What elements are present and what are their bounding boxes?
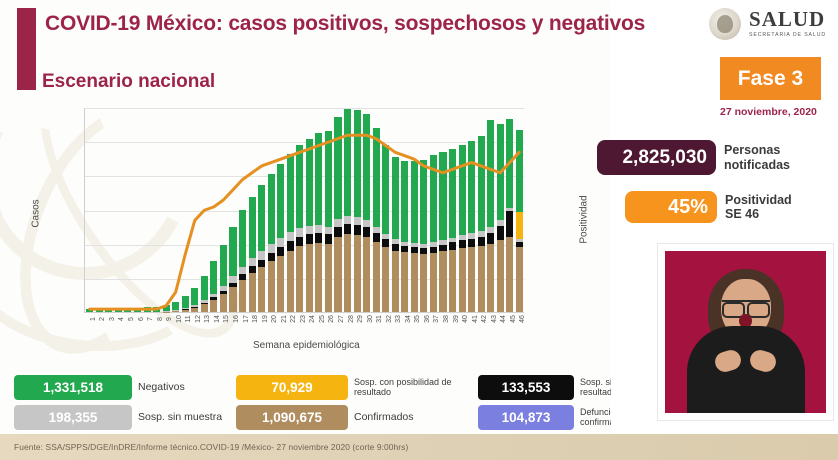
bar-slot[interactable]: 25: [314, 108, 324, 312]
bar-slot[interactable]: 4: [114, 108, 124, 312]
bar-slot[interactable]: 20: [266, 108, 276, 312]
bar-segment: [325, 227, 332, 235]
x-tick: 30: [367, 315, 374, 323]
plot-area: 00%20,00010%40,00020%60,00030%80,00040%1…: [84, 108, 524, 313]
bar-segment: [363, 220, 370, 227]
bar-segment: [258, 260, 265, 267]
bar-segment: [506, 237, 513, 312]
bar-segment: [449, 242, 456, 249]
bar-slot[interactable]: 16: [228, 108, 238, 312]
bar-slot[interactable]: 11: [180, 108, 190, 312]
stacked-bar[interactable]: [210, 261, 217, 312]
bar-segment: [459, 248, 466, 312]
bar-segment: [430, 155, 437, 242]
bar-segment: [220, 245, 227, 286]
x-tick: 7: [147, 317, 154, 321]
bar-segment: [354, 217, 361, 224]
stacked-bar[interactable]: [478, 136, 485, 312]
stacked-bar[interactable]: [86, 309, 93, 312]
stacked-bar[interactable]: [344, 109, 351, 312]
stacked-bar[interactable]: [296, 145, 303, 312]
x-tick: 21: [281, 315, 288, 323]
stat-label-line2: SE 46: [725, 207, 792, 222]
bar-segment: [449, 250, 456, 312]
bar-slot[interactable]: 39: [448, 108, 458, 312]
x-tick: 45: [510, 315, 517, 323]
bar-slot[interactable]: 41: [467, 108, 477, 312]
bar-segment: [354, 235, 361, 312]
bar-segment: [344, 224, 351, 235]
bar-slot[interactable]: 2: [95, 108, 105, 312]
bar-segment: [325, 244, 332, 312]
bar-segment: [86, 309, 93, 312]
stacked-bar[interactable]: [468, 141, 475, 312]
bar-slot[interactable]: 45: [505, 108, 515, 312]
x-tick: 11: [185, 315, 192, 322]
bar-slot[interactable]: 38: [438, 108, 448, 312]
bar-slot[interactable]: 29: [352, 108, 362, 312]
bar-segment: [382, 239, 389, 247]
bar-segment: [516, 130, 523, 212]
x-tick: 1: [90, 317, 97, 321]
x-tick: 37: [433, 315, 440, 323]
x-tick: 4: [118, 317, 125, 321]
stacked-bar[interactable]: [229, 227, 236, 312]
interpreter-frame: [665, 251, 826, 413]
bar-slot[interactable]: 15: [219, 108, 229, 312]
stacked-bar[interactable]: [249, 197, 256, 312]
bar-segment: [478, 136, 485, 232]
bar-segment: [277, 247, 284, 256]
glasses-icon: [722, 300, 770, 312]
bar-segment: [373, 128, 380, 227]
stacked-bar[interactable]: [163, 305, 170, 312]
bar-segment: [506, 211, 513, 237]
stacked-bar[interactable]: [449, 149, 456, 312]
stacked-bar[interactable]: [306, 139, 313, 312]
legend-label: Confirmados: [354, 411, 472, 423]
bar-segment: [382, 247, 389, 312]
bar-slot[interactable]: 12: [190, 108, 200, 312]
page-title: COVID-19 México: casos positivos, sospec…: [45, 12, 645, 36]
bar-segment: [268, 244, 275, 253]
bar-segment: [315, 233, 322, 243]
x-tick: 6: [138, 317, 145, 321]
x-tick: 13: [204, 315, 211, 323]
chart: Casos Positividad Semana epidemiológica …: [0, 96, 611, 366]
y-axis-title-right: Positividad: [579, 195, 590, 243]
bar-segment: [96, 309, 103, 312]
bar-segment: [306, 244, 313, 312]
x-tick: 27: [338, 315, 345, 323]
legend-value: 1,090,675: [236, 405, 348, 430]
x-tick: 9: [166, 317, 173, 321]
bar-segment: [268, 253, 275, 261]
bar-segment: [229, 227, 236, 277]
x-tick: 38: [443, 315, 450, 323]
bar-slot[interactable]: 44: [496, 108, 506, 312]
x-tick: 12: [195, 315, 202, 323]
x-tick: 26: [328, 315, 335, 323]
stacked-bar[interactable]: [287, 154, 294, 312]
legend-label: Negativos: [138, 381, 230, 393]
bar-slot[interactable]: 7: [142, 108, 152, 312]
bar-segment: [468, 239, 475, 248]
bar-slot[interactable]: 33: [391, 108, 401, 312]
bar-segment: [354, 110, 361, 218]
bar-segment: [287, 251, 294, 313]
stacked-bar[interactable]: [239, 210, 246, 312]
bar-segment: [239, 267, 246, 275]
bar-slot[interactable]: 9: [161, 108, 171, 312]
bar-segment: [296, 145, 303, 228]
bar-segment: [430, 253, 437, 312]
bar-segment: [249, 258, 256, 266]
right-panel: Fase 3 27 noviembre, 2020 2,825,030 Pers…: [611, 0, 838, 460]
bar-segment: [420, 254, 427, 312]
x-tick: 17: [243, 315, 250, 323]
bar-segment: [344, 109, 351, 217]
stacked-bar[interactable]: [506, 119, 513, 312]
stacked-bar[interactable]: [268, 174, 275, 312]
stacked-bar[interactable]: [105, 309, 112, 312]
bar-group: 1234567891011121314151617181920212223242…: [85, 108, 524, 312]
stacked-bar[interactable]: [182, 296, 189, 312]
bar-slot[interactable]: 42: [476, 108, 486, 312]
bar-slot[interactable]: 37: [429, 108, 439, 312]
bar-slot[interactable]: 24: [305, 108, 315, 312]
bar-slot[interactable]: 1: [85, 108, 95, 312]
x-tick: 18: [252, 315, 259, 323]
salud-logo: SALUD SECRETARIA DE SALUD: [709, 8, 826, 40]
bar-segment: [344, 216, 351, 224]
bar-slot[interactable]: 30: [362, 108, 372, 312]
bar-segment: [334, 117, 341, 220]
bar-segment: [182, 310, 189, 312]
stacked-bar[interactable]: [420, 160, 427, 312]
bar-segment: [487, 233, 494, 244]
stat-label-line1: Personas: [724, 143, 790, 158]
x-tick: 39: [453, 315, 460, 323]
report-date: 27 noviembre, 2020: [720, 106, 817, 118]
bar-segment: [439, 251, 446, 312]
stacked-bar[interactable]: [334, 117, 341, 312]
x-tick: 35: [414, 315, 421, 323]
bar-segment: [478, 237, 485, 247]
bar-segment: [497, 124, 504, 220]
y-axis-title-left: Casos: [31, 199, 42, 227]
bar-segment: [334, 219, 341, 227]
x-tick: 32: [386, 315, 393, 323]
bar-slot[interactable]: 17: [238, 108, 248, 312]
bar-segment: [296, 237, 303, 247]
logo-wordmark: SALUD: [749, 9, 826, 30]
bar-segment: [516, 212, 523, 239]
bar-segment: [363, 114, 370, 220]
bar-segment: [334, 237, 341, 312]
x-tick: 41: [472, 315, 479, 323]
legend-label: Sosp. sin muestra: [138, 411, 230, 423]
x-tick: 34: [405, 315, 412, 323]
bar-segment: [401, 252, 408, 312]
sign-language-video[interactable]: [658, 244, 833, 420]
bar-segment: [287, 241, 294, 250]
bar-segment: [363, 227, 370, 237]
bar-segment: [115, 308, 122, 312]
stacked-bar[interactable]: [201, 276, 208, 312]
stacked-bar[interactable]: [172, 302, 179, 312]
bar-segment: [401, 161, 408, 241]
stat-label: Personas notificadas: [724, 143, 790, 172]
stat-label-line2: notificadas: [724, 158, 790, 173]
x-tick: 25: [319, 315, 326, 323]
bar-segment: [124, 308, 131, 312]
bar-segment: [296, 246, 303, 312]
bar-segment: [363, 237, 370, 312]
stacked-bar[interactable]: [516, 130, 523, 312]
bar-slot[interactable]: 5: [123, 108, 133, 312]
bar-segment: [315, 133, 322, 225]
bar-slot[interactable]: 10: [171, 108, 181, 312]
legend-value: 70,929: [236, 375, 348, 400]
bar-segment: [306, 234, 313, 244]
x-tick: 24: [309, 315, 316, 323]
bar-segment: [468, 141, 475, 233]
stacked-bar[interactable]: [401, 161, 408, 312]
x-tick: 43: [491, 315, 498, 323]
bar-segment: [239, 210, 246, 266]
bar-slot[interactable]: 28: [343, 108, 353, 312]
bar-segment: [315, 243, 322, 312]
bar-segment: [172, 311, 179, 312]
bar-segment: [382, 145, 389, 234]
x-tick: 31: [376, 315, 383, 323]
stacked-bar[interactable]: [325, 131, 332, 312]
bar-segment: [191, 288, 198, 305]
bar-segment: [439, 152, 446, 240]
x-tick: 22: [290, 315, 297, 323]
bar-segment: [306, 139, 313, 225]
x-tick: 15: [223, 315, 230, 323]
legend-value: 198,355: [14, 405, 132, 430]
bar-segment: [258, 251, 265, 260]
stacked-bar[interactable]: [258, 185, 265, 312]
bar-segment: [487, 244, 494, 312]
bar-segment: [172, 302, 179, 311]
bar-segment: [229, 287, 236, 312]
x-tick: 33: [395, 315, 402, 323]
x-tick: 40: [462, 315, 469, 323]
bar-segment: [144, 307, 151, 312]
bar-slot[interactable]: 40: [457, 108, 467, 312]
bar-slot[interactable]: 35: [410, 108, 420, 312]
stat-label-line1: Positividad: [725, 193, 792, 208]
bar-segment: [268, 174, 275, 244]
bar-segment: [325, 131, 332, 227]
stacked-bar[interactable]: [411, 161, 418, 312]
bar-segment: [220, 294, 227, 312]
bar-slot[interactable]: 3: [104, 108, 114, 312]
stat-personas-notificadas: 2,825,030 Personas notificadas: [597, 140, 790, 175]
x-tick: 10: [176, 315, 183, 323]
bar-segment: [478, 246, 485, 312]
x-tick: 36: [424, 315, 431, 323]
bar-segment: [392, 251, 399, 313]
stacked-bar[interactable]: [115, 308, 122, 312]
x-tick: 46: [519, 315, 526, 323]
bar-segment: [201, 276, 208, 300]
stacked-bar[interactable]: [144, 307, 151, 312]
bar-slot[interactable]: 19: [257, 108, 267, 312]
bar-segment: [354, 225, 361, 236]
stacked-bar[interactable]: [220, 245, 227, 312]
bar-slot[interactable]: 23: [295, 108, 305, 312]
bar-slot[interactable]: 46: [515, 108, 525, 312]
x-tick: 2: [99, 317, 106, 321]
bar-segment: [306, 226, 313, 234]
bar-segment: [373, 233, 380, 242]
stacked-bar[interactable]: [392, 157, 399, 312]
bar-segment: [182, 296, 189, 308]
bar-segment: [210, 261, 217, 293]
footer-source: Fuente: SSA/SPPS/DGE/InDRE/Informe técni…: [0, 434, 838, 460]
bar-segment: [468, 247, 475, 312]
legend-value: 104,873: [478, 405, 574, 430]
bar-slot[interactable]: 32: [381, 108, 391, 312]
x-tick: 19: [262, 315, 269, 323]
stat-label: Positividad SE 46: [725, 193, 792, 222]
x-tick: 23: [300, 315, 307, 323]
footer-text: Fuente: SSA/SPPS/DGE/InDRE/Informe técni…: [0, 442, 408, 452]
bar-segment: [258, 267, 265, 312]
bar-segment: [411, 161, 418, 243]
stat-positividad: 45% Positividad SE 46: [625, 191, 792, 223]
x-tick: 5: [128, 317, 135, 321]
bar-segment: [258, 185, 265, 251]
person-body: [687, 326, 805, 413]
bar-segment: [134, 308, 141, 312]
bar-segment: [497, 240, 504, 312]
stacked-bar[interactable]: [277, 164, 284, 312]
bar-segment: [334, 227, 341, 237]
bar-segment: [344, 234, 351, 312]
fase-badge: Fase 3: [720, 57, 821, 100]
bar-segment: [153, 307, 160, 312]
stacked-bar[interactable]: [153, 307, 160, 312]
x-tick: 14: [214, 315, 221, 323]
stacked-bar[interactable]: [497, 124, 504, 312]
bar-segment: [191, 308, 198, 312]
stacked-bar[interactable]: [191, 288, 198, 312]
bar-slot[interactable]: 21: [276, 108, 286, 312]
stacked-bar[interactable]: [382, 145, 389, 312]
stacked-bar[interactable]: [363, 114, 370, 312]
bar-segment: [210, 300, 217, 312]
bar-slot[interactable]: 8: [152, 108, 162, 312]
x-tick: 3: [109, 317, 116, 321]
bar-segment: [459, 240, 466, 248]
eagle-seal-icon: [709, 8, 741, 40]
stacked-bar[interactable]: [354, 110, 361, 312]
bar-segment: [497, 226, 504, 241]
bar-segment: [277, 164, 284, 238]
stacked-bar[interactable]: [439, 152, 446, 312]
legend-label: Sosp. con posibilidad de resultado: [354, 377, 472, 398]
bar-segment: [296, 228, 303, 237]
bar-segment: [392, 157, 399, 239]
bar-segment: [287, 154, 294, 233]
stacked-bar[interactable]: [430, 155, 437, 312]
bar-slot[interactable]: 22: [285, 108, 295, 312]
bar-segment: [239, 280, 246, 312]
bar-segment: [392, 244, 399, 251]
title-accent-bar: [17, 8, 36, 90]
bar-slot[interactable]: 26: [324, 108, 334, 312]
stacked-bar[interactable]: [459, 145, 466, 312]
legend-value: 1,331,518: [14, 375, 132, 400]
bar-segment: [411, 253, 418, 312]
x-tick: 16: [233, 315, 240, 323]
bar-slot[interactable]: 31: [371, 108, 381, 312]
bar-segment: [487, 120, 494, 228]
section-title: Escenario nacional: [42, 71, 215, 93]
stat-value: 2,825,030: [597, 140, 716, 175]
bar-segment: [249, 197, 256, 259]
bar-slot[interactable]: 6: [133, 108, 143, 312]
bar-slot[interactable]: 13: [200, 108, 210, 312]
stacked-bar[interactable]: [96, 309, 103, 312]
bar-segment: [449, 149, 456, 238]
bar-segment: [459, 145, 466, 236]
stacked-bar[interactable]: [373, 128, 380, 312]
bar-segment: [268, 261, 275, 312]
bar-segment: [315, 225, 322, 233]
legend-value: 133,553: [478, 375, 574, 400]
stacked-bar[interactable]: [487, 120, 494, 313]
bar-slot[interactable]: 27: [333, 108, 343, 312]
bar-segment: [201, 304, 208, 312]
bar-slot[interactable]: 18: [247, 108, 257, 312]
bar-slot[interactable]: 36: [419, 108, 429, 312]
x-tick: 28: [348, 315, 355, 323]
logo-subtitle: SECRETARIA DE SALUD: [749, 33, 826, 38]
bar-segment: [287, 232, 294, 241]
chart-legend: 1,331,518Negativos70,929Sosp. con posibi…: [14, 374, 606, 430]
bar-segment: [277, 256, 284, 312]
stacked-bar[interactable]: [134, 308, 141, 312]
bar-segment: [277, 238, 284, 247]
bar-slot[interactable]: 14: [209, 108, 219, 312]
bar-segment: [420, 160, 427, 244]
x-tick: 8: [157, 317, 164, 321]
bar-segment: [506, 119, 513, 208]
bar-segment: [325, 234, 332, 244]
bar-slot[interactable]: 34: [400, 108, 410, 312]
x-axis-title: Semana epidemiológica: [253, 340, 360, 351]
x-tick: 20: [271, 315, 278, 323]
bar-segment: [105, 309, 112, 312]
bar-slot[interactable]: 43: [486, 108, 496, 312]
x-tick: 44: [500, 315, 507, 323]
bar-segment: [516, 247, 523, 312]
bar-segment: [373, 242, 380, 312]
bar-segment: [249, 273, 256, 312]
stacked-bar[interactable]: [124, 308, 131, 312]
x-tick: 42: [481, 315, 488, 323]
x-tick: 29: [357, 315, 364, 323]
stacked-bar[interactable]: [315, 133, 322, 312]
stat-value: 45%: [625, 191, 717, 223]
